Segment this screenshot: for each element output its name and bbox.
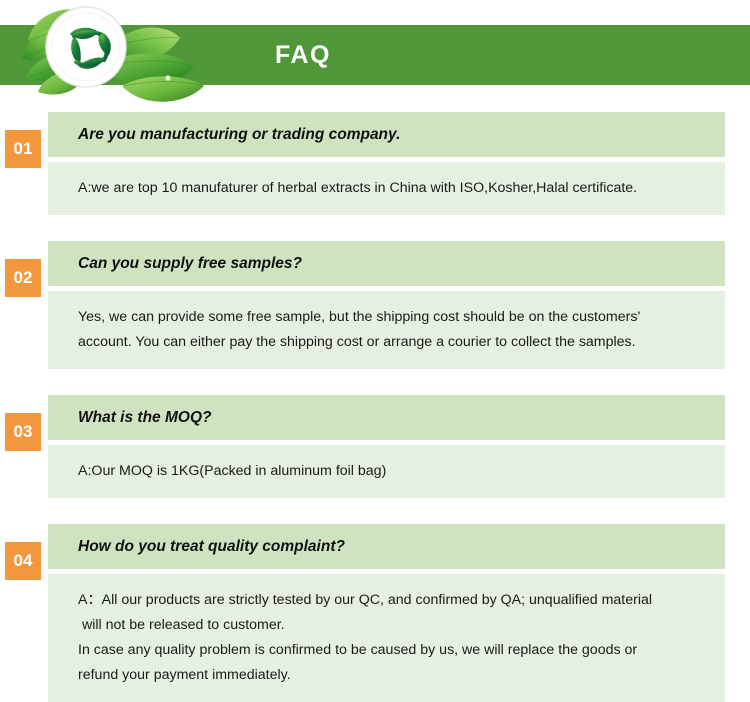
faq-body: Can you supply free samples? Yes, we can…: [48, 241, 725, 369]
page-title: FAQ: [275, 38, 331, 72]
faq-body: Are you manufacturing or trading company…: [48, 112, 725, 215]
faq-number-badge: 01: [5, 130, 41, 168]
faq-answer: A:we are top 10 manufaturer of herbal ex…: [48, 162, 725, 215]
faq-answer-line: account. You can either pay the shipping…: [78, 330, 707, 355]
faq-answer: A:Our MOQ is 1KG(Packed in aluminum foil…: [48, 445, 725, 498]
faq-item: 01 Are you manufacturing or trading comp…: [0, 112, 750, 215]
faq-answer-line: A：All our products are strictly tested b…: [78, 588, 707, 613]
faq-body: What is the MOQ? A:Our MOQ is 1KG(Packed…: [48, 395, 725, 498]
faq-item: 02 Can you supply free samples? Yes, we …: [0, 241, 750, 369]
faq-question: Can you supply free samples?: [48, 241, 725, 286]
faq-number-badge: 02: [5, 259, 41, 297]
page-header: FAQ: [0, 0, 750, 112]
faq-list: 01 Are you manufacturing or trading comp…: [0, 112, 750, 702]
faq-number-badge: 03: [5, 413, 41, 451]
faq-question: How do you treat quality complaint?: [48, 524, 725, 569]
faq-question: Are you manufacturing or trading company…: [48, 112, 725, 157]
faq-answer: Yes, we can provide some free sample, bu…: [48, 291, 725, 369]
faq-answer: A：All our products are strictly tested b…: [48, 574, 725, 702]
faq-question: What is the MOQ?: [48, 395, 725, 440]
faq-item: 04 How do you treat quality complaint? A…: [0, 524, 750, 702]
faq-answer-line: A:Our MOQ is 1KG(Packed in aluminum foil…: [78, 459, 707, 484]
faq-answer-line: Yes, we can provide some free sample, bu…: [78, 305, 707, 330]
faq-answer-line: A:we are top 10 manufaturer of herbal ex…: [78, 176, 707, 201]
faq-body: How do you treat quality complaint? A：Al…: [48, 524, 725, 702]
faq-answer-line: refund your payment immediately.: [78, 663, 707, 688]
faq-item: 03 What is the MOQ? A:Our MOQ is 1KG(Pac…: [0, 395, 750, 498]
faq-answer-line: In case any quality problem is confirmed…: [78, 638, 707, 663]
faq-number-badge: 04: [5, 542, 41, 580]
faq-answer-line: will not be released to customer.: [78, 613, 707, 638]
leaf-circle-logo-icon: [18, 0, 218, 112]
